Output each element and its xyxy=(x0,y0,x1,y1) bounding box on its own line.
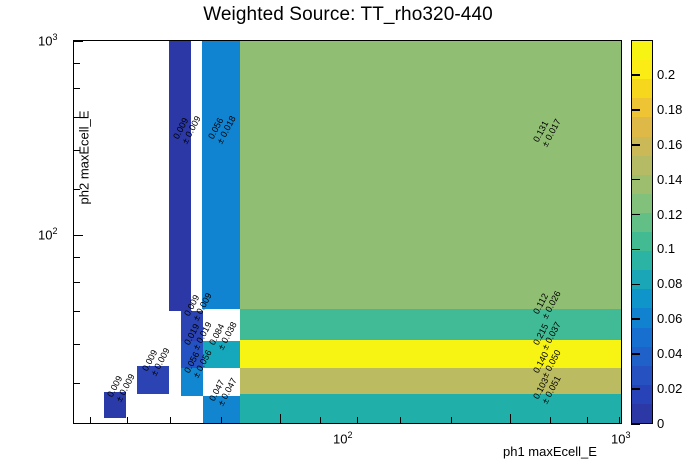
cell-lower-small-a xyxy=(104,392,126,418)
x-tick xyxy=(320,417,321,423)
color-scale-segment xyxy=(632,136,652,156)
cell-band-olive xyxy=(240,368,622,394)
y-tick xyxy=(74,344,80,345)
color-scale-segment xyxy=(632,365,652,385)
x-tick xyxy=(221,417,222,423)
color-scale-tick xyxy=(631,109,640,111)
y-tick xyxy=(74,383,80,384)
color-scale-tick-label: 0.04 xyxy=(657,346,682,361)
color-scale-tick xyxy=(631,179,640,181)
color-scale-bar xyxy=(631,40,653,424)
cell-teal-box xyxy=(203,341,240,368)
x-tick xyxy=(90,417,91,423)
color-scale-tick xyxy=(631,74,640,76)
x-tick xyxy=(127,417,128,423)
y-tick-label-100: 102 xyxy=(38,226,57,242)
color-scale-tick-label: 0.2 xyxy=(657,67,675,82)
color-scale-segment xyxy=(632,117,652,137)
color-scale-segment xyxy=(632,289,652,309)
color-scale-segment xyxy=(632,174,652,194)
color-scale-tick-label: 0.1 xyxy=(657,241,675,256)
color-scale-segment xyxy=(632,403,652,423)
color-scale-tick-label: 0.18 xyxy=(657,102,682,117)
color-scale-segment xyxy=(632,251,652,271)
cell-col-mid-middle xyxy=(181,341,203,368)
x-tick xyxy=(510,414,511,423)
plot-area: 0.009 ± 0.009 0.056 ± 0.018 0.131 ± 0.01… xyxy=(73,40,622,424)
color-scale-segment xyxy=(632,384,652,404)
x-axis-label: ph1 maxEcell_E xyxy=(503,444,597,459)
color-scale-tick xyxy=(631,318,640,320)
cell-col-mid-top xyxy=(181,311,203,341)
color-scale-tick xyxy=(631,284,640,286)
color-scale-segment xyxy=(632,60,652,80)
x-tick xyxy=(357,417,358,423)
cell-col-mid-bottom xyxy=(181,368,203,396)
color-scale-tick xyxy=(631,144,640,146)
color-scale-segment xyxy=(632,193,652,213)
y-tick xyxy=(74,63,80,64)
x-tick xyxy=(619,417,620,423)
cell-lower-small-b xyxy=(137,366,169,394)
color-scale-tick-label: 0.06 xyxy=(657,311,682,326)
x-tick-label-100: 102 xyxy=(333,430,352,446)
page-title: Weighted Source: TT_rho320-440 xyxy=(0,4,696,26)
cell-band-teal-upper xyxy=(240,309,622,340)
color-scale-tick-label: 0.14 xyxy=(657,172,682,187)
y-tick xyxy=(74,282,80,283)
color-scale-tick-label: 0.08 xyxy=(657,276,682,291)
cell-top-second-bar xyxy=(202,41,240,309)
y-axis-label: ph2 maxEcell_E xyxy=(77,68,92,248)
x-tick xyxy=(587,417,588,423)
color-scale-tick xyxy=(631,388,640,390)
x-tick xyxy=(170,417,171,423)
color-scale-tick-label: 0 xyxy=(657,416,664,431)
x-tick xyxy=(550,417,551,423)
cell-top-left-bar xyxy=(169,41,191,311)
color-scale-segment xyxy=(632,79,652,99)
x-tick-label-1000: 103 xyxy=(611,430,630,446)
y-tick xyxy=(74,257,80,258)
x-tick xyxy=(451,417,452,423)
canvas: Weighted Source: TT_rho320-440 0.009 ± 0… xyxy=(0,0,696,472)
color-scale-segment xyxy=(632,327,652,347)
color-scale-tick-label: 0.16 xyxy=(657,137,682,152)
y-tick-label-1000: 103 xyxy=(38,32,57,48)
color-scale-segment xyxy=(632,346,652,366)
color-scale-segment xyxy=(632,155,652,175)
color-scale-segment xyxy=(632,98,652,118)
color-scale-tick xyxy=(631,423,640,425)
y-tick xyxy=(74,41,83,42)
cell-band-yellow xyxy=(240,340,622,368)
color-scale-tick-label: 0.12 xyxy=(657,207,682,222)
cell-main-green-region xyxy=(240,41,622,309)
color-scale-tick xyxy=(631,214,640,216)
y-tick xyxy=(74,311,80,312)
color-scale-tick xyxy=(631,353,640,355)
color-scale-segment xyxy=(632,270,652,290)
x-tick xyxy=(280,414,281,423)
cell-band-teal-lower xyxy=(240,394,622,424)
color-scale-tick xyxy=(631,249,640,251)
color-scale-segment xyxy=(632,40,652,60)
color-scale-tick-label: 0.02 xyxy=(657,381,682,396)
x-tick xyxy=(400,417,401,423)
